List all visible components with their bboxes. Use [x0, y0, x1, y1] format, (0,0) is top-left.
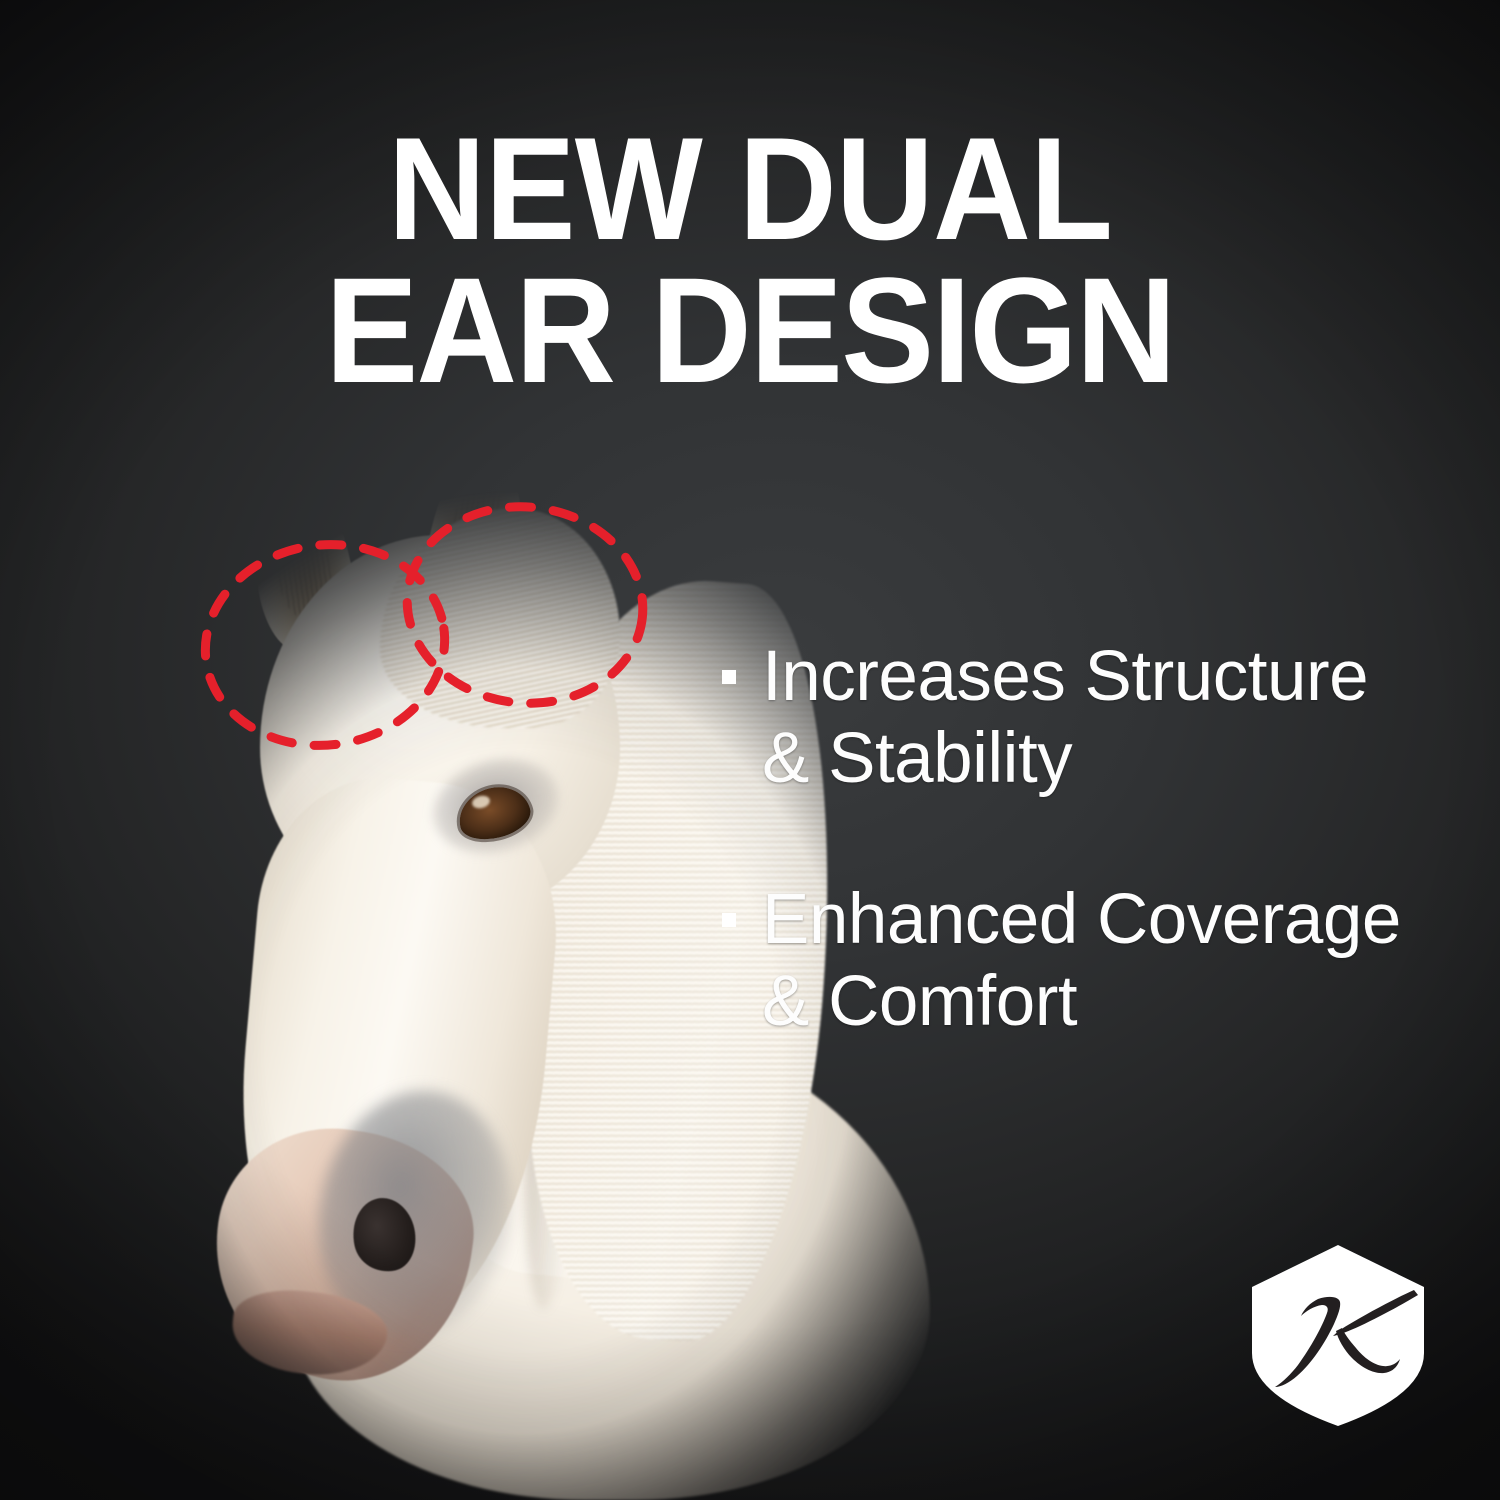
- feature-text-line-2: & Stability: [762, 718, 1368, 800]
- headline-line-2: EAR DESIGN: [53, 259, 1448, 402]
- feature-text-line-1: Increases Structure: [762, 636, 1368, 718]
- feature-text-line-1: Enhanced Coverage: [762, 879, 1401, 961]
- list-item: Increases Structure & Stability: [722, 636, 1422, 801]
- list-item: Enhanced Coverage & Comfort: [722, 879, 1422, 1044]
- feature-list: Increases Structure & Stability Enhanced…: [722, 636, 1422, 1121]
- page-title: NEW DUAL EAR DESIGN: [53, 120, 1448, 401]
- feature-text: Increases Structure & Stability: [762, 636, 1368, 801]
- square-bullet-icon: [722, 670, 736, 684]
- feature-text-line-2: & Comfort: [762, 961, 1401, 1043]
- ad-creative: NEW DUAL EAR DESIGN Increases Structure …: [0, 0, 1500, 1500]
- shield-icon: [1248, 1243, 1428, 1428]
- brand-logo: [1248, 1243, 1428, 1428]
- square-bullet-icon: [722, 913, 736, 927]
- feature-text: Enhanced Coverage & Comfort: [762, 879, 1401, 1044]
- headline-line-1: NEW DUAL: [53, 120, 1448, 259]
